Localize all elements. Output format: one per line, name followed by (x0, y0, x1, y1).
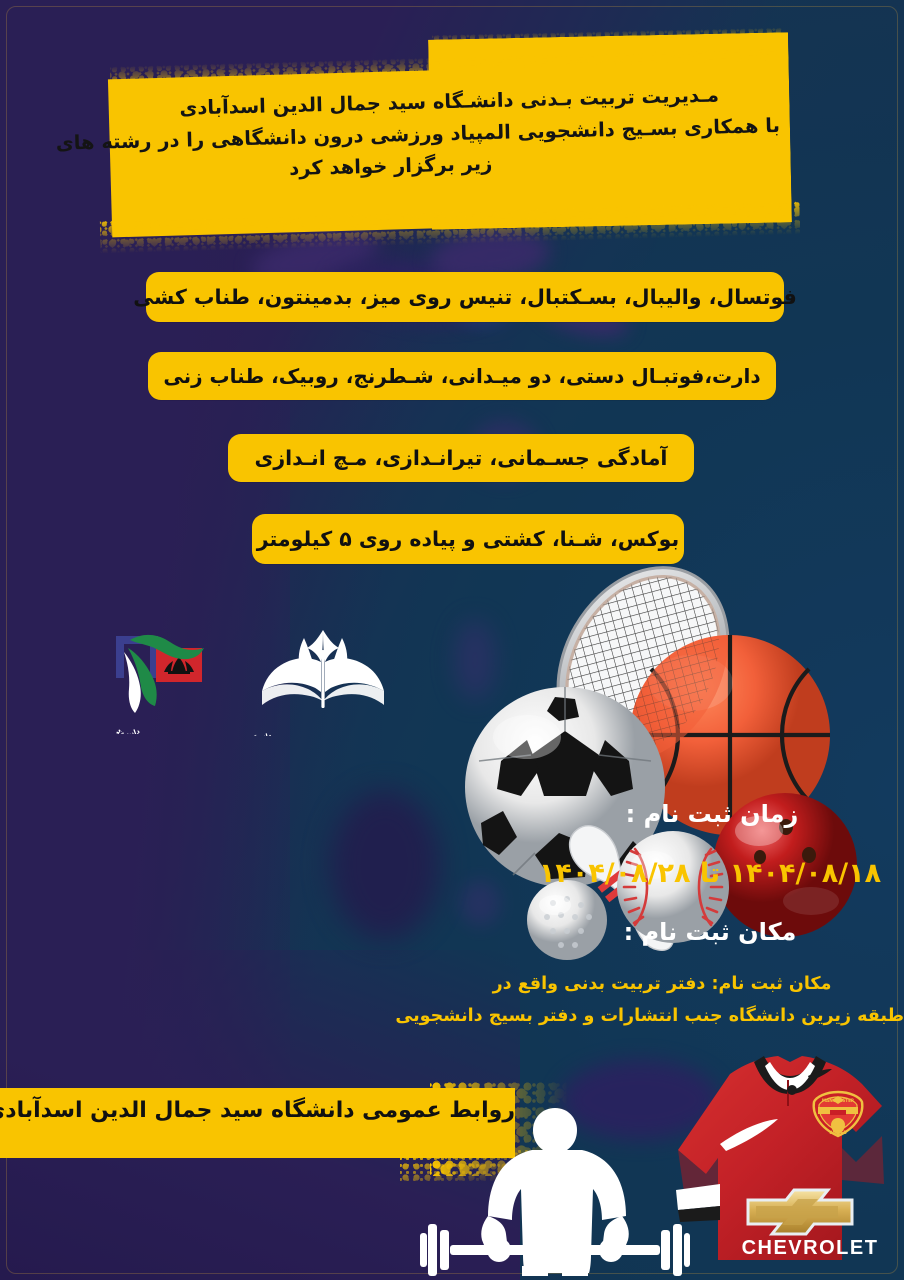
sport-pill-3: آمادگی جسـمانی، تیرانـدازی، مـچ انـدازی (228, 434, 694, 482)
registration-time-label: زمان ثبت نام : (0, 800, 904, 828)
registration-place-line-2: طبقه زیرین دانشگاه جنب انتشارات و دفتر ب… (420, 1000, 904, 1032)
weightlifter-silhouette-icon (420, 1100, 690, 1280)
svg-text:دانشگاه سید جمال الدین اسـدآبا: دانشگاه سید جمال الدین اسـدآبادی (248, 730, 273, 736)
sport-pill-2: دارت،فوتبـال دستی، دو میـدانی، شـطرنج، ر… (148, 352, 776, 400)
svg-text:UNITED: UNITED (829, 1130, 847, 1135)
poster-root: مـدیریت تربیت بـدنی دانشـگاه سید جمال ال… (0, 0, 904, 1280)
registration-place-label: مکان ثبت نام : (0, 918, 904, 946)
svg-text:MANCHESTER: MANCHESTER (822, 1098, 855, 1103)
sports-equipment-illustration (455, 565, 904, 965)
header-banner: مـدیریت تربیت بـدنی دانشـگاه سید جمال ال… (0, 28, 904, 238)
sport-pill-1: فوتسال، والیبال، بسـکتبال، تنیس روی میز،… (146, 272, 784, 322)
svg-text:بسیج دانشجویی: بسیج دانشجویی (94, 727, 123, 734)
registration-place-value: مکان ثبت نام: دفتر تربیت بدنی واقع در طب… (0, 968, 904, 1033)
university-logo-icon: دانشگاه سید جمال الدین اسـدآبادی (248, 616, 398, 736)
svg-text:CHEVROLET: CHEVROLET (742, 1237, 879, 1259)
logo-row: بسیج دانشجویی دانشگاه سید جمال دانشگاه س… (80, 608, 400, 758)
sport-pill-4: بوکس، شـنا، کشتی و پیاده روی ۵ کیلومتر (252, 514, 684, 564)
registration-time-value: ۱۴۰۴/۰۸/۱۸ تا ۱۴۰۴/۰۸/۲۸ (0, 858, 904, 889)
basij-student-logo-icon: بسیج دانشجویی دانشگاه سید جمال (94, 614, 234, 734)
football-jersey-icon: MANCHESTER UNITED CHEVROLET (660, 1040, 904, 1280)
registration-place-line-1: مکان ثبت نام: دفتر تربیت بدنی واقع در (420, 968, 904, 1000)
header-text-block: مـدیریت تربیت بـدنی دانشـگاه سید جمال ال… (119, 78, 781, 189)
